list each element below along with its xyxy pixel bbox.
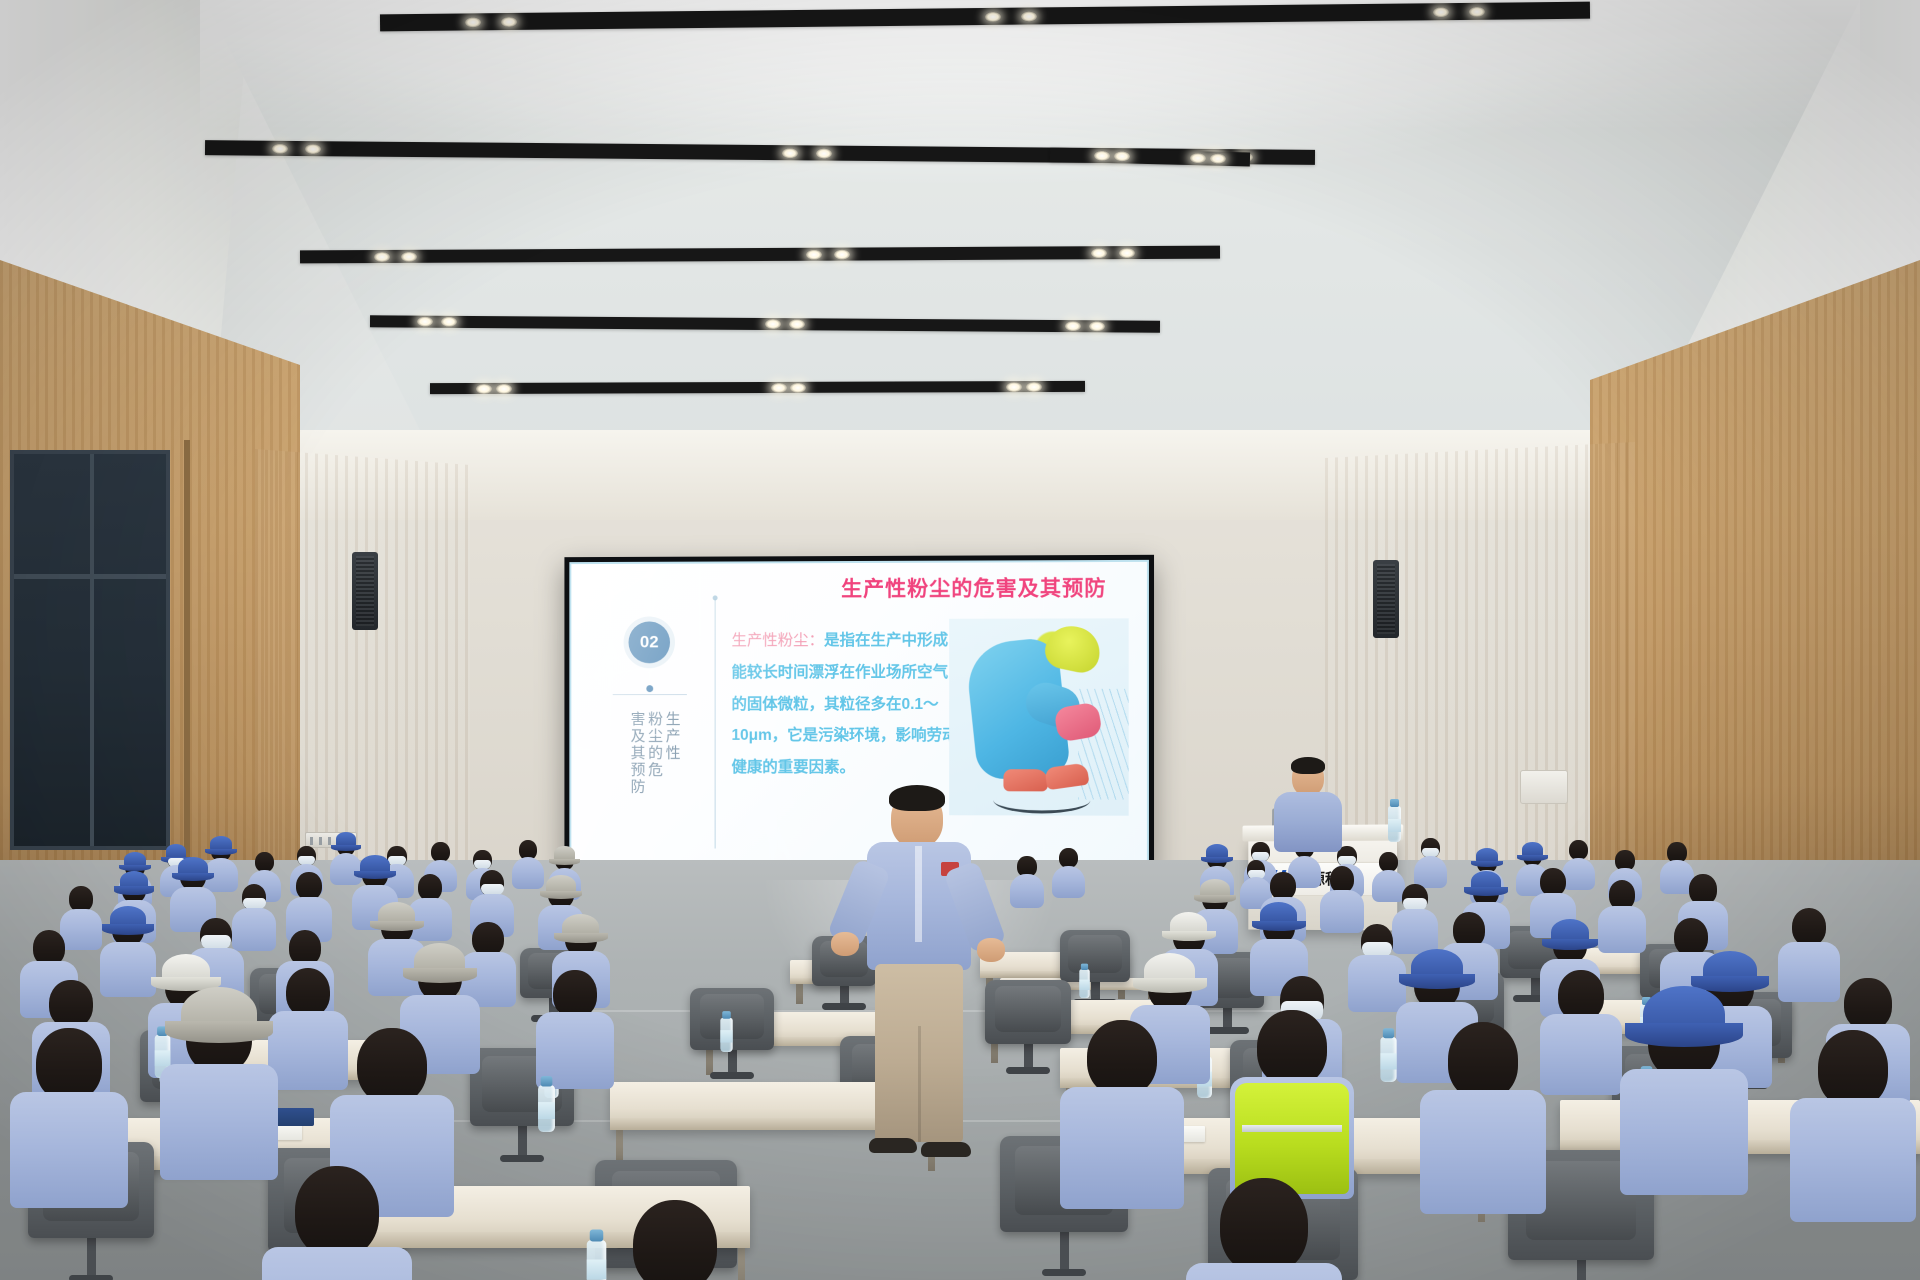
person-uniform	[1060, 1087, 1184, 1209]
person-cap	[546, 875, 575, 895]
audience-person	[600, 1200, 750, 1280]
person-cap	[210, 836, 232, 851]
ceiling-lamp-icon	[465, 17, 481, 27]
speaker-left	[352, 552, 378, 630]
person-uniform	[1790, 1098, 1916, 1221]
person-cap	[1206, 844, 1228, 859]
cap-brim	[1133, 978, 1207, 993]
presenter-hand-left	[831, 932, 859, 956]
chair-base	[710, 1072, 754, 1079]
person-head	[1257, 1010, 1326, 1086]
slide-badge-rule	[613, 694, 687, 695]
person-cap	[414, 943, 465, 978]
person-head	[633, 1200, 717, 1280]
person-cap	[1170, 912, 1207, 938]
ceiling-lamp-icon	[1094, 151, 1110, 161]
person-head	[1558, 970, 1604, 1021]
person-uniform	[1598, 906, 1646, 953]
person-uniform	[262, 1247, 412, 1280]
person-head	[49, 980, 93, 1028]
audience-person	[1598, 880, 1646, 957]
ceiling-lamp-icon	[765, 319, 781, 329]
bottle-cap	[1081, 964, 1088, 970]
cap-brim	[1471, 861, 1502, 867]
bottle[interactable]	[538, 1085, 555, 1132]
person-cap	[378, 902, 415, 928]
training-room-photo: 生产性粉尘的危害及其预防 02 生产性 粉尘的危 害及其预防 生产性粉尘：是指在…	[0, 0, 1920, 1280]
chair-post	[1060, 1229, 1069, 1272]
audience-person	[1790, 1030, 1916, 1232]
cap-brim	[102, 924, 153, 934]
bottle-cap	[1383, 1028, 1394, 1038]
person-uniform	[1420, 1090, 1546, 1213]
slide-badge-dot	[646, 685, 653, 692]
ceiling-lamp-icon	[771, 382, 787, 392]
ceiling-lamp-icon	[815, 148, 831, 158]
person-uniform	[1186, 1263, 1342, 1280]
bottle-label	[1380, 1053, 1396, 1069]
desk-leg	[796, 982, 803, 1004]
person-cap	[1476, 848, 1498, 863]
ceiling-lamp-icon	[1433, 7, 1449, 17]
cap-brim	[540, 891, 582, 900]
slide-vertical-col-2: 粉尘的危	[646, 711, 662, 840]
bottle-cap	[1390, 799, 1399, 807]
slide-section-badge: 02	[629, 621, 671, 663]
person-cap	[1703, 951, 1757, 988]
audience-person	[1052, 848, 1085, 901]
person-head	[1674, 918, 1709, 956]
person-uniform	[1540, 1014, 1622, 1094]
glass-door[interactable]	[10, 450, 170, 850]
chair-post	[518, 1123, 527, 1158]
chair-base	[1006, 1067, 1050, 1074]
slide-title: 生产性粉尘的危害及其预防	[841, 572, 1106, 603]
ceiling-lamp-icon	[305, 144, 321, 154]
person-cap	[1411, 949, 1463, 985]
person-cap	[166, 844, 186, 858]
cap-brim	[403, 968, 477, 983]
cap-brim	[1162, 931, 1215, 942]
person-cap	[162, 954, 211, 988]
person-head	[36, 1028, 102, 1101]
presenter-shoe-right	[921, 1142, 971, 1157]
chair	[1060, 930, 1130, 982]
ceiling-lamp-icon	[1114, 151, 1130, 161]
person-head	[69, 886, 93, 912]
ceiling-lamp-icon	[1210, 153, 1226, 163]
ceiling-lamp-icon	[1026, 382, 1042, 392]
cap-brim	[370, 921, 423, 932]
cap-brim	[114, 886, 154, 894]
bottle[interactable]	[1380, 1037, 1396, 1082]
ceiling-lamp-icon	[1119, 248, 1135, 258]
cap-brim	[205, 849, 236, 855]
bottle-cap	[541, 1076, 553, 1086]
cap-brim	[554, 933, 607, 944]
audience-person	[1414, 838, 1447, 891]
person-uniform	[1010, 874, 1044, 907]
ceiling-lamp-icon	[1021, 11, 1037, 21]
person-head	[1844, 978, 1891, 1030]
wood-wall-far-right	[1325, 440, 1635, 870]
bottle-label	[1388, 819, 1401, 832]
ceiling-lamp-icon	[1469, 6, 1485, 16]
cap-brim	[1252, 921, 1305, 932]
cap-brim	[1194, 895, 1236, 904]
cap-brim	[165, 1021, 273, 1043]
person-cap	[1551, 919, 1589, 946]
cap-brim	[331, 845, 360, 851]
person-head	[33, 930, 65, 966]
ceiling-lamp-icon	[401, 251, 417, 261]
cap-brim	[1517, 855, 1547, 861]
ceiling-light-strip-5	[430, 381, 1085, 394]
ceiling-lamp-icon	[441, 317, 457, 327]
ceiling-lamp-icon	[1091, 248, 1107, 258]
slide-vertical-col-1: 生产性	[664, 711, 680, 840]
bottle[interactable]	[720, 1018, 732, 1052]
person-cap	[336, 832, 356, 846]
person-head	[1453, 912, 1485, 948]
chair-base	[500, 1155, 544, 1162]
cap-brim	[1625, 1023, 1743, 1047]
ceiling-lamp-icon	[417, 317, 433, 327]
bottle-cap	[722, 1011, 731, 1019]
person-uniform	[10, 1092, 128, 1208]
person-head	[1448, 1022, 1519, 1100]
audience-person	[1620, 1000, 1748, 1205]
audience-person	[10, 1028, 128, 1217]
person-cap	[1643, 986, 1725, 1043]
slide-body-lead: 生产性粉尘：	[731, 632, 824, 649]
person-cap	[1522, 842, 1543, 857]
presenter-trousers	[875, 964, 963, 1142]
cap-brim	[1399, 974, 1474, 989]
cap-brim	[172, 873, 214, 882]
chair-post	[87, 1235, 96, 1278]
door-rail	[14, 574, 166, 579]
ceiling-lamp-icon	[1190, 153, 1206, 163]
audience-person	[1060, 1020, 1184, 1218]
person-head	[286, 968, 331, 1017]
person-cap	[1471, 871, 1502, 892]
cap-brim	[1464, 887, 1508, 896]
person-head	[1818, 1030, 1889, 1108]
slide-vertical-divider	[715, 599, 716, 848]
cap-brim	[1201, 857, 1232, 863]
slide-worker-photo	[949, 618, 1129, 815]
audience-person	[1010, 856, 1044, 910]
person-cap	[1200, 879, 1229, 899]
person-cap	[181, 987, 256, 1039]
chair-post	[1024, 1041, 1033, 1070]
presenter-shoe-left	[869, 1138, 917, 1153]
person-cap	[1260, 902, 1297, 928]
person-head	[357, 1028, 426, 1104]
person-cap	[120, 871, 148, 891]
ceiling-lamp-icon	[272, 143, 288, 153]
chair-base	[1042, 1269, 1086, 1276]
presenter-head	[891, 790, 943, 848]
person-head	[289, 930, 321, 966]
cap-brim	[549, 859, 579, 865]
ceiling-lamp-icon	[782, 148, 798, 158]
slide-vertical-title: 生产性 粉尘的危 害及其预防	[607, 711, 702, 840]
ceiling-lamp-icon	[374, 251, 390, 261]
operator-shirt	[1274, 792, 1342, 852]
person-cap	[1144, 953, 1195, 988]
audience-person	[1540, 970, 1622, 1101]
worker-hose	[993, 787, 1090, 813]
speaker-right	[1373, 560, 1399, 638]
person-head	[1792, 908, 1827, 946]
ceiling-lamp-icon	[789, 319, 805, 329]
person-cap	[178, 857, 207, 877]
door-mullion	[90, 454, 94, 846]
bottle-label	[1079, 980, 1089, 990]
chair-post	[1577, 1257, 1586, 1280]
slide-vertical-col-3: 害及其预防	[629, 711, 645, 840]
ceiling-lamp-icon	[501, 16, 517, 26]
chair-base	[69, 1275, 113, 1280]
chair	[985, 980, 1071, 1044]
person-cap	[110, 906, 146, 931]
audience-person	[262, 1166, 412, 1280]
person-uniform	[160, 1064, 278, 1180]
person-uniform	[1052, 866, 1085, 898]
ceiling-lamp-icon	[495, 383, 511, 393]
ceiling-lamp-icon	[806, 249, 822, 259]
person-head	[1220, 1178, 1307, 1274]
person-cap	[360, 855, 389, 875]
wood-wall-far-left	[255, 445, 470, 865]
bottle-lectern[interactable]	[1388, 806, 1401, 842]
person-cap	[124, 852, 146, 867]
person-head	[295, 1166, 379, 1258]
person-cap	[562, 914, 599, 940]
operator-head	[1292, 760, 1324, 796]
person-uniform	[1620, 1069, 1748, 1194]
ceiling-lamp-icon	[834, 249, 850, 259]
person-head	[1087, 1020, 1156, 1096]
person-head	[553, 970, 597, 1018]
presenter	[845, 790, 995, 1190]
audience-person	[1186, 1178, 1342, 1280]
cap-brim	[354, 871, 396, 880]
lectern-operator	[1268, 760, 1348, 850]
bottle-label	[538, 1102, 555, 1119]
ceiling-lamp-icon	[1065, 321, 1081, 331]
ceiling-lamp-icon	[476, 383, 492, 393]
presenter-hand-right	[977, 938, 1005, 962]
audience-person	[1420, 1022, 1546, 1224]
bottle[interactable]	[1079, 969, 1089, 998]
audience-person	[160, 1000, 278, 1189]
ceiling-lamp-icon	[1006, 382, 1022, 392]
bottle-label	[720, 1030, 732, 1042]
vest-stripe	[1242, 1125, 1342, 1132]
ceiling-lamp-icon	[985, 11, 1001, 21]
cap-brim	[1542, 939, 1597, 950]
wall-control-panel[interactable]	[1520, 770, 1568, 804]
ceiling-lamp-icon	[1089, 321, 1105, 331]
ceiling-lamp-icon	[790, 382, 806, 392]
person-cap	[554, 846, 575, 861]
